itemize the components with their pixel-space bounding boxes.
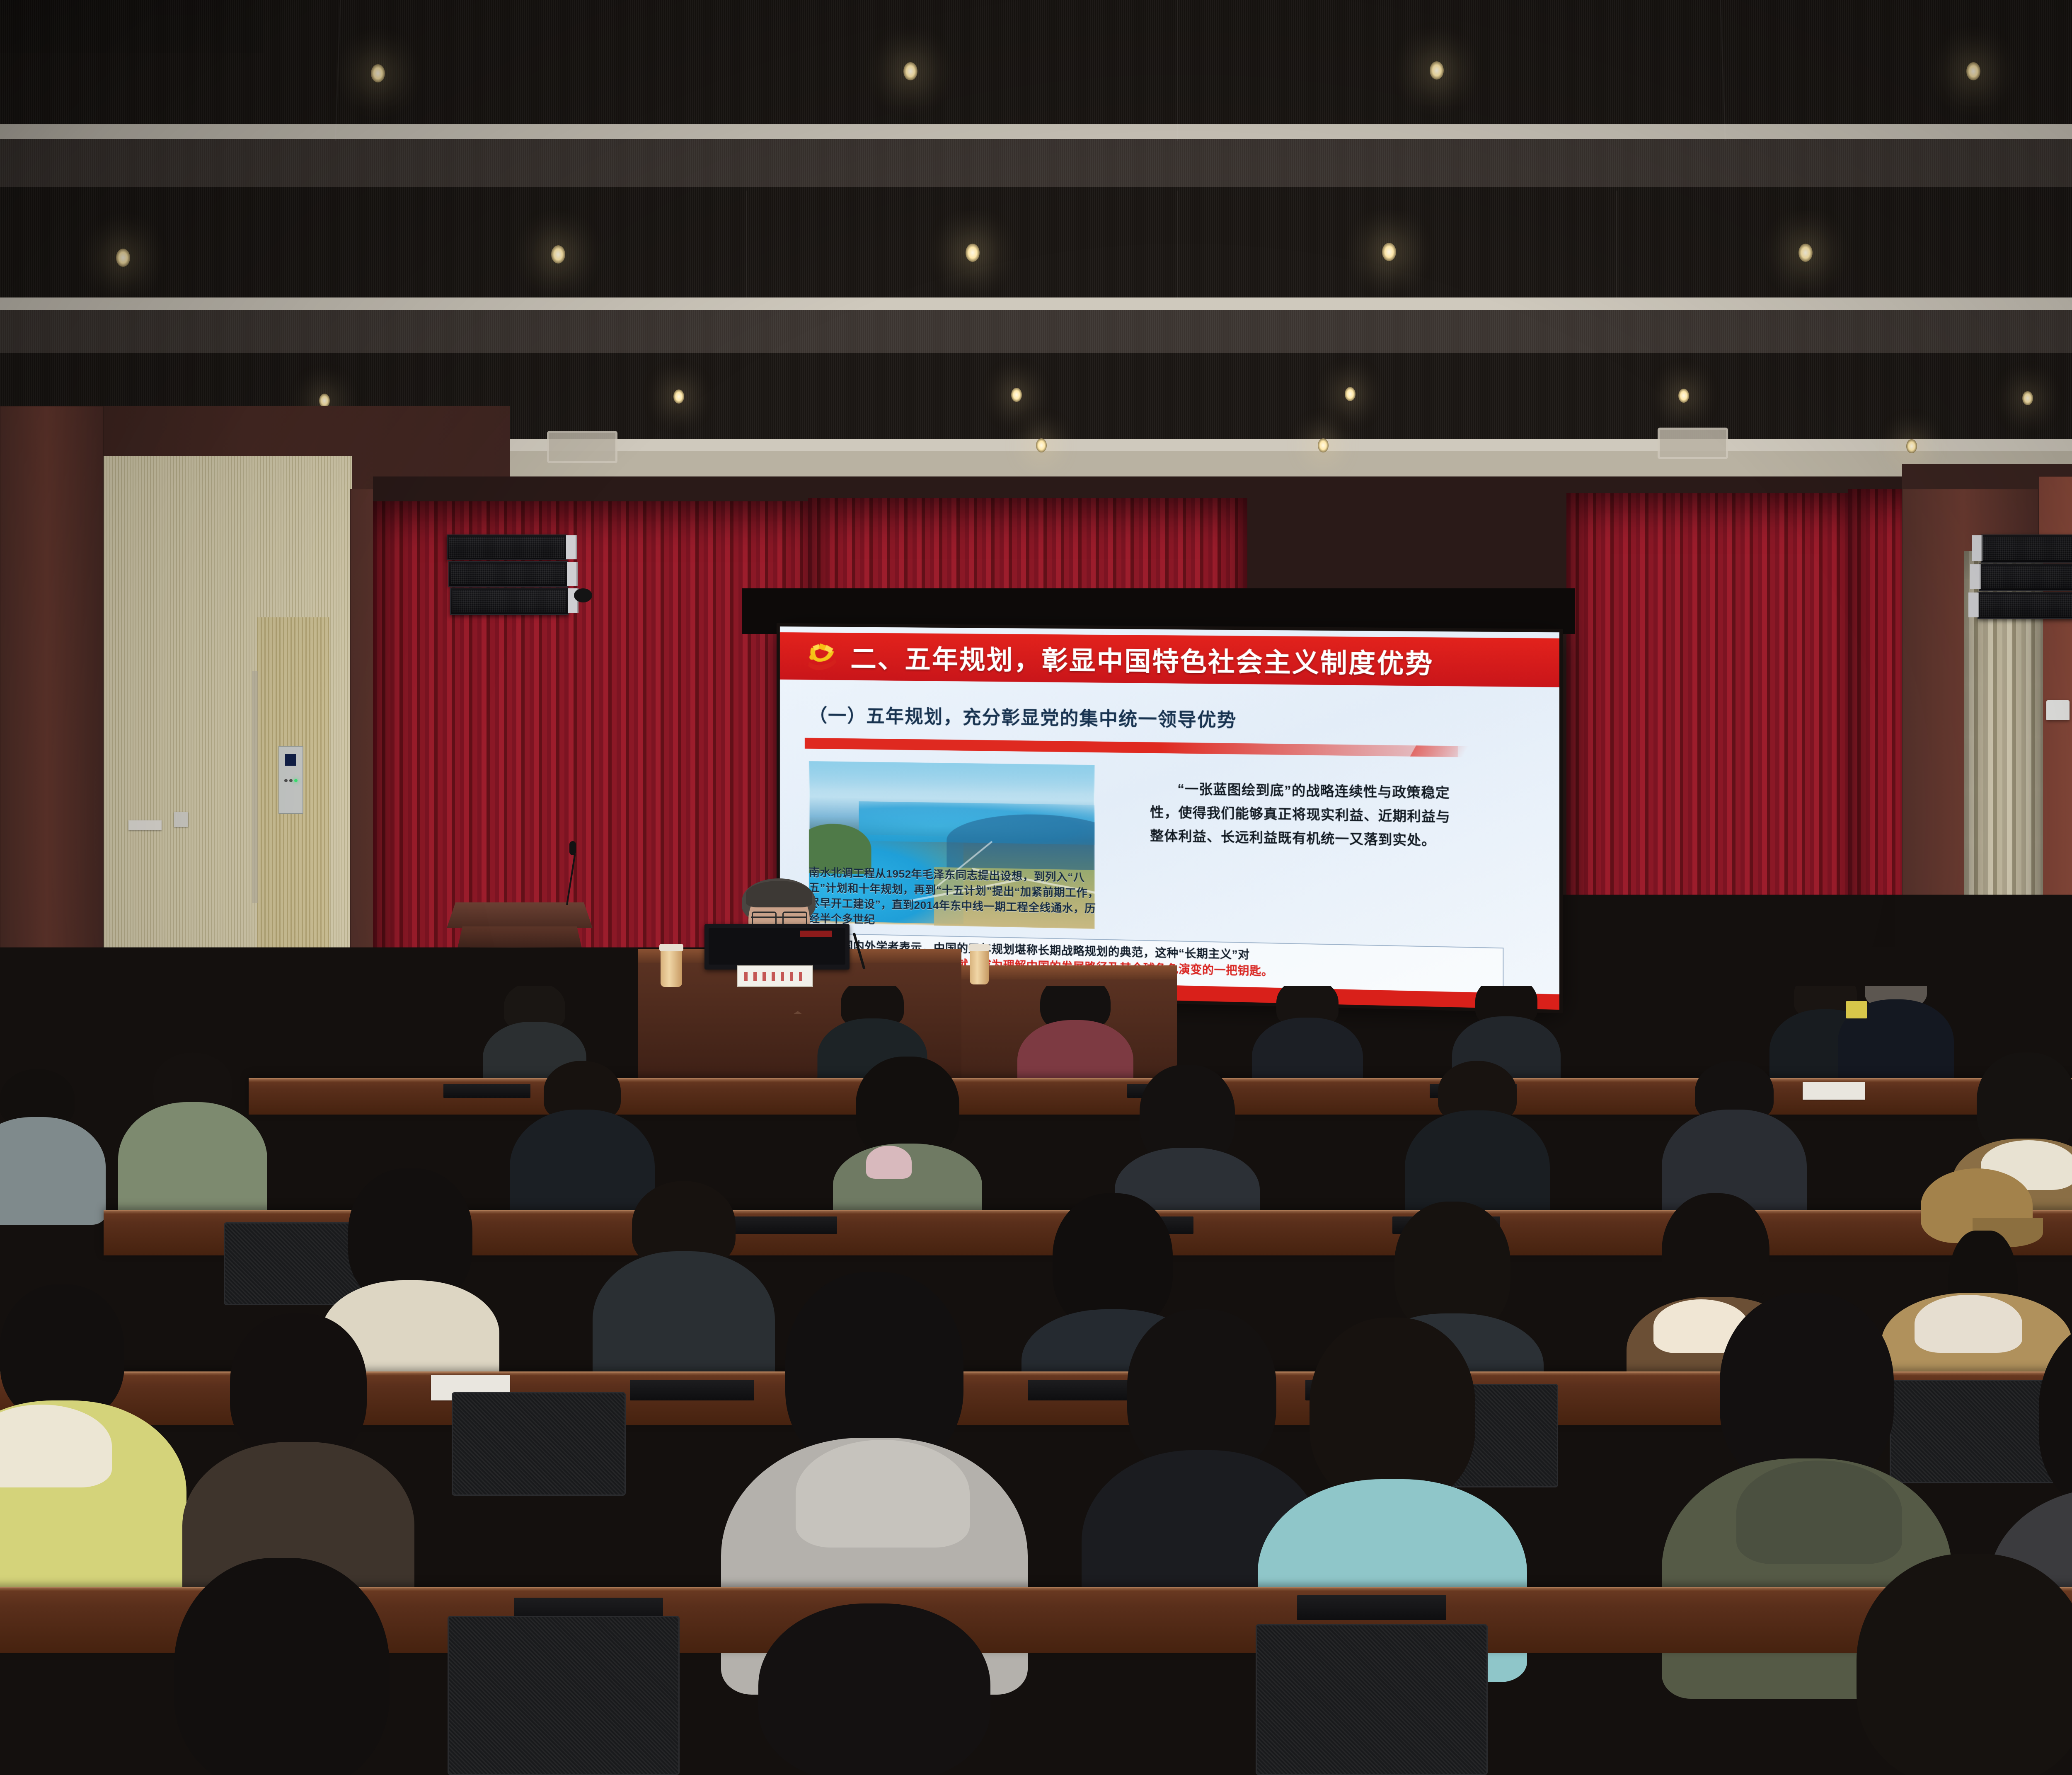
ceiling-downlight (1966, 62, 1980, 80)
slide-accent-bar (805, 738, 1458, 757)
ceiling-downlight (2022, 391, 2033, 405)
control-panel-display (285, 754, 296, 766)
ceiling-downlight (1906, 439, 1917, 453)
ceiling-downlight (1011, 388, 1022, 402)
control-panel-led (284, 779, 288, 782)
attendee-front (124, 1558, 439, 1775)
desk-monitor-recess (1297, 1595, 1446, 1620)
attendee (124, 1052, 261, 1218)
slide-right-paragraph: “一张蓝图绘到底”的战略连续性与政策稳定性，使得我们能够真正将现实利益、近期利益… (1150, 777, 1453, 853)
attendee (0, 1069, 99, 1218)
attendee (1028, 986, 1123, 1090)
drinking-glass (661, 949, 682, 987)
desk-paper (1803, 1082, 1865, 1100)
chair (452, 1392, 626, 1496)
wall-sconce (2046, 700, 2070, 720)
chair (448, 1616, 680, 1775)
slide-header-bar: 二、五年规划，彰显中国特色社会主义制度优势 (780, 632, 1559, 687)
ceiling-downlight (371, 64, 385, 82)
slide-subtitle: （一）五年规划，充分彰显党的集中统一领导优势 (809, 701, 1237, 733)
ceiling-downlight (1678, 389, 1689, 403)
slide-title: 二、五年规划，彰显中国特色社会主义制度优势 (850, 638, 1433, 681)
cpc-emblem-icon (803, 640, 841, 672)
ceiling-downlight (1382, 243, 1396, 261)
presenter-laptop[interactable] (704, 924, 850, 970)
attendee-officer (1844, 986, 1948, 1086)
attendee (1260, 986, 1355, 1094)
line-array-speaker-right (1977, 534, 2072, 624)
ceiling-air-vent (547, 431, 617, 463)
presenter-nameplate (737, 965, 813, 987)
ceiling-downlight (966, 244, 980, 262)
stage-curtain-right (1566, 493, 1865, 1007)
wall-trim-strip (252, 671, 258, 903)
wall-notice (128, 820, 162, 830)
wall-control-panel[interactable] (278, 746, 303, 814)
attendee (837, 1057, 978, 1231)
ceiling-downlight (319, 394, 330, 408)
ceiling-downlight (1318, 438, 1329, 452)
ceiling-downlight (673, 389, 684, 404)
ceiling-downlight (1036, 438, 1047, 452)
microphone-head (569, 841, 576, 855)
control-panel-led (294, 779, 298, 782)
control-panel-led (289, 779, 293, 782)
lecture-hall-photo: 二、五年规划，彰显中国特色社会主义制度优势 （一）五年规划，充分彰显党的集中统一… (0, 0, 2072, 1775)
audience-seating: FRIENDSIN (0, 986, 2072, 1775)
attendee-front (1803, 1554, 2072, 1775)
ceiling-downlight (551, 245, 565, 264)
ceiling-downlight (1345, 387, 1356, 401)
ceiling-air-vent (1658, 428, 1728, 459)
attendee-front (704, 1603, 1044, 1775)
ceiling-downlight (1430, 61, 1444, 80)
line-array-speaker-left (447, 534, 571, 621)
attendee-yellow-coat (0, 1284, 178, 1599)
ceiling-downlight (1798, 244, 1813, 262)
ceiling-camera-left (574, 588, 592, 602)
chair (1256, 1624, 1488, 1775)
tea-cup (970, 949, 989, 984)
ceiling-downlight (903, 62, 917, 80)
ceiling-downlight (116, 249, 130, 267)
wall-switch (174, 812, 188, 827)
